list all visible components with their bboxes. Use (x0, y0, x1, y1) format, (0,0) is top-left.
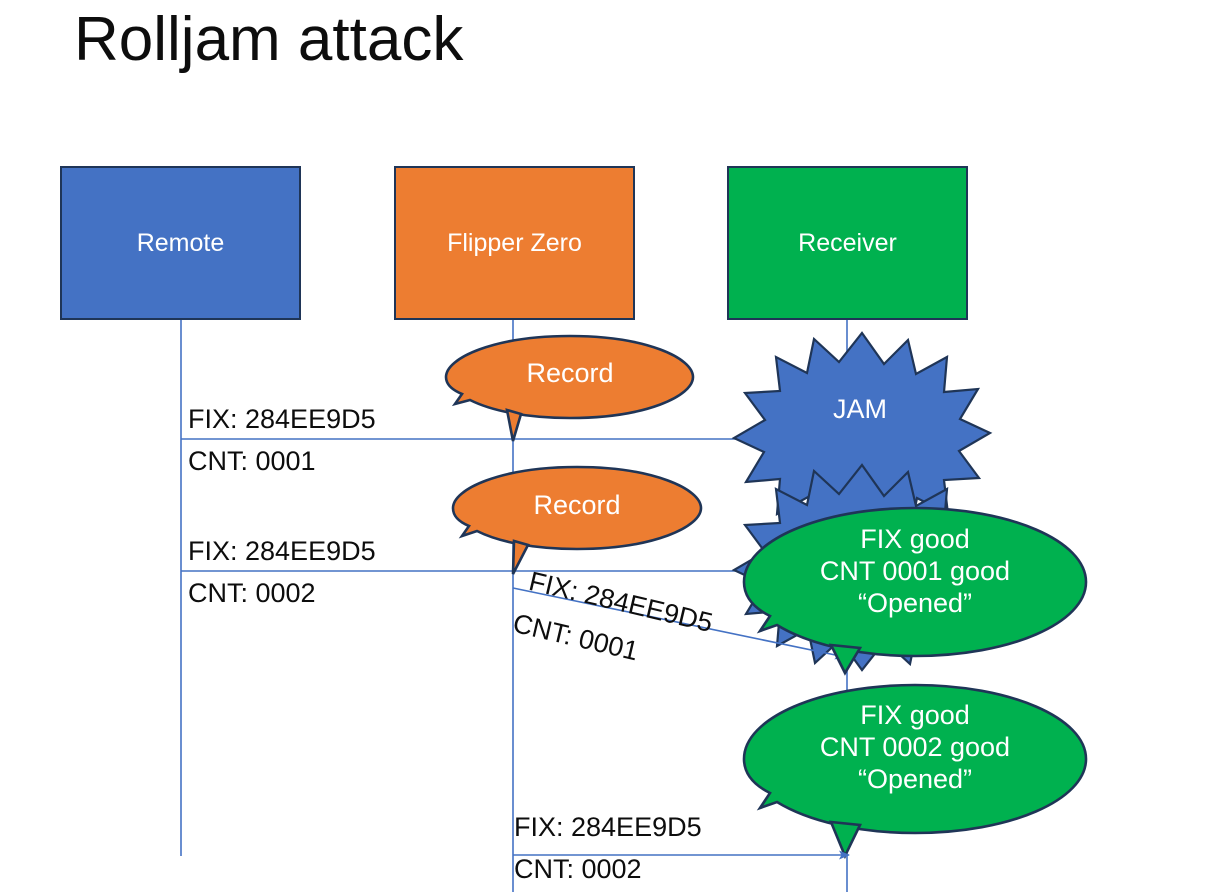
actor-box-flipper[interactable]: Flipper Zero (394, 166, 635, 320)
message-2-cnt-label: CNT: 0002 (188, 578, 316, 609)
message-4-cnt-label: CNT: 0002 (514, 854, 642, 885)
callout-green-2 (744, 685, 1086, 856)
callout-record-1 (446, 336, 693, 441)
actor-label-remote: Remote (137, 229, 225, 258)
message-1-fix-label: FIX: 284EE9D5 (188, 404, 376, 435)
slide-canvas: Rolljam attack Remote Flipper Zero Recei… (0, 0, 1231, 892)
message-2-fix-label: FIX: 284EE9D5 (188, 536, 376, 567)
actor-label-flipper: Flipper Zero (447, 229, 582, 258)
actor-box-remote[interactable]: Remote (60, 166, 301, 320)
actor-label-receiver: Receiver (798, 229, 897, 258)
diagram-vector-layer (0, 0, 1231, 892)
message-1-cnt-label: CNT: 0001 (188, 446, 316, 477)
message-4-fix-label: FIX: 284EE9D5 (514, 812, 702, 843)
callout-record-2 (453, 467, 701, 574)
actor-box-receiver[interactable]: Receiver (727, 166, 968, 320)
page-title: Rolljam attack (74, 4, 463, 75)
callout-green-1 (744, 508, 1086, 673)
